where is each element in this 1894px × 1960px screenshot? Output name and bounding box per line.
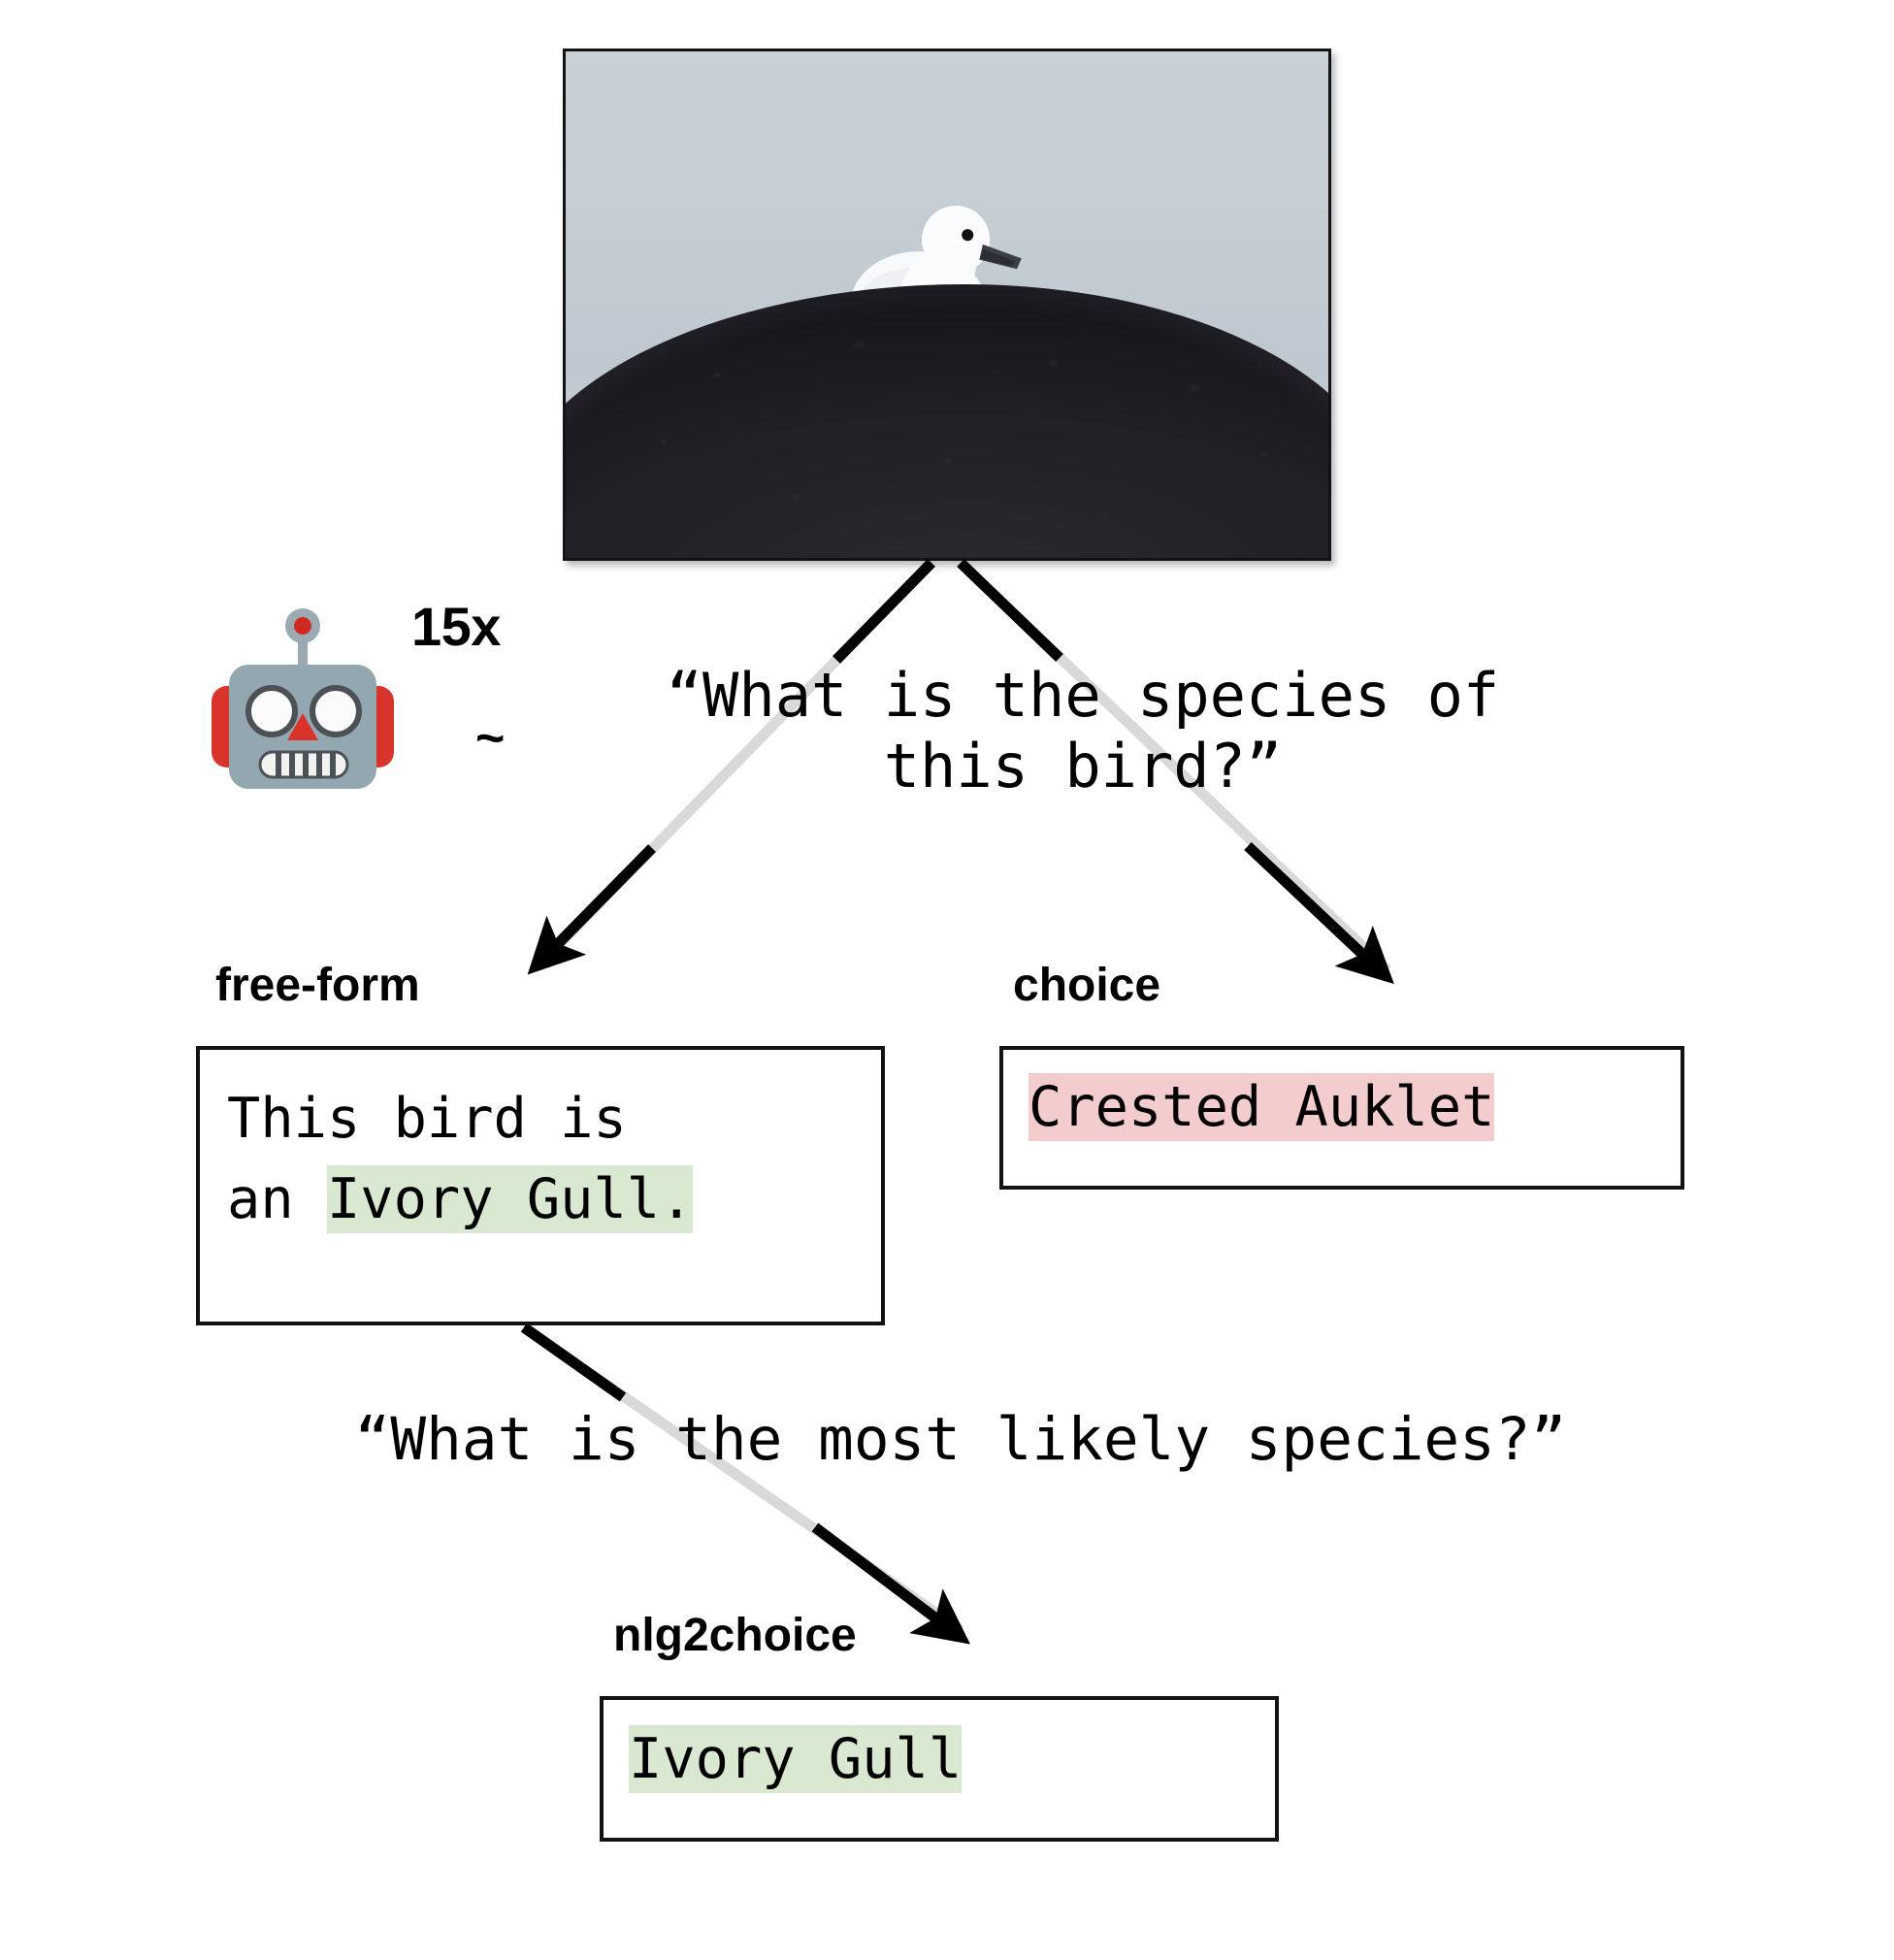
branch-label-free-form: free-form (215, 959, 420, 1012)
bird-photo (563, 49, 1331, 561)
choice-answer-box: Crested Auklet (999, 1046, 1684, 1190)
free-form-answer-line1: This bird is (227, 1087, 627, 1151)
free-form-answer-highlight: Ivory Gull. (327, 1165, 694, 1233)
secondary-prompt-text: “What is the most likely species?” (146, 1405, 1776, 1475)
nlg2choice-answer-box: Ivory Gull (600, 1696, 1279, 1842)
free-form-answer-prefix2: an (227, 1167, 327, 1231)
free-form-answer-box: This bird is an Ivory Gull. (196, 1046, 885, 1325)
approx-symbol: ~ (475, 713, 505, 764)
branch-label-choice: choice (1013, 959, 1160, 1012)
branch-label-nlg2choice: nlg2choice (613, 1609, 857, 1662)
robot-icon (206, 597, 400, 791)
free-form-answer-line2: an Ivory Gull. (227, 1160, 881, 1240)
repeat-count-label: 15x (411, 595, 501, 658)
primary-prompt-text: “What is the species of this bird?” (539, 660, 1626, 801)
diagram-canvas: 15x ~ “What is the species of this bird?… (0, 0, 1894, 1960)
choice-answer-highlight: Crested Auklet (1029, 1073, 1494, 1141)
nlg2choice-answer-highlight: Ivory Gull (629, 1725, 962, 1793)
